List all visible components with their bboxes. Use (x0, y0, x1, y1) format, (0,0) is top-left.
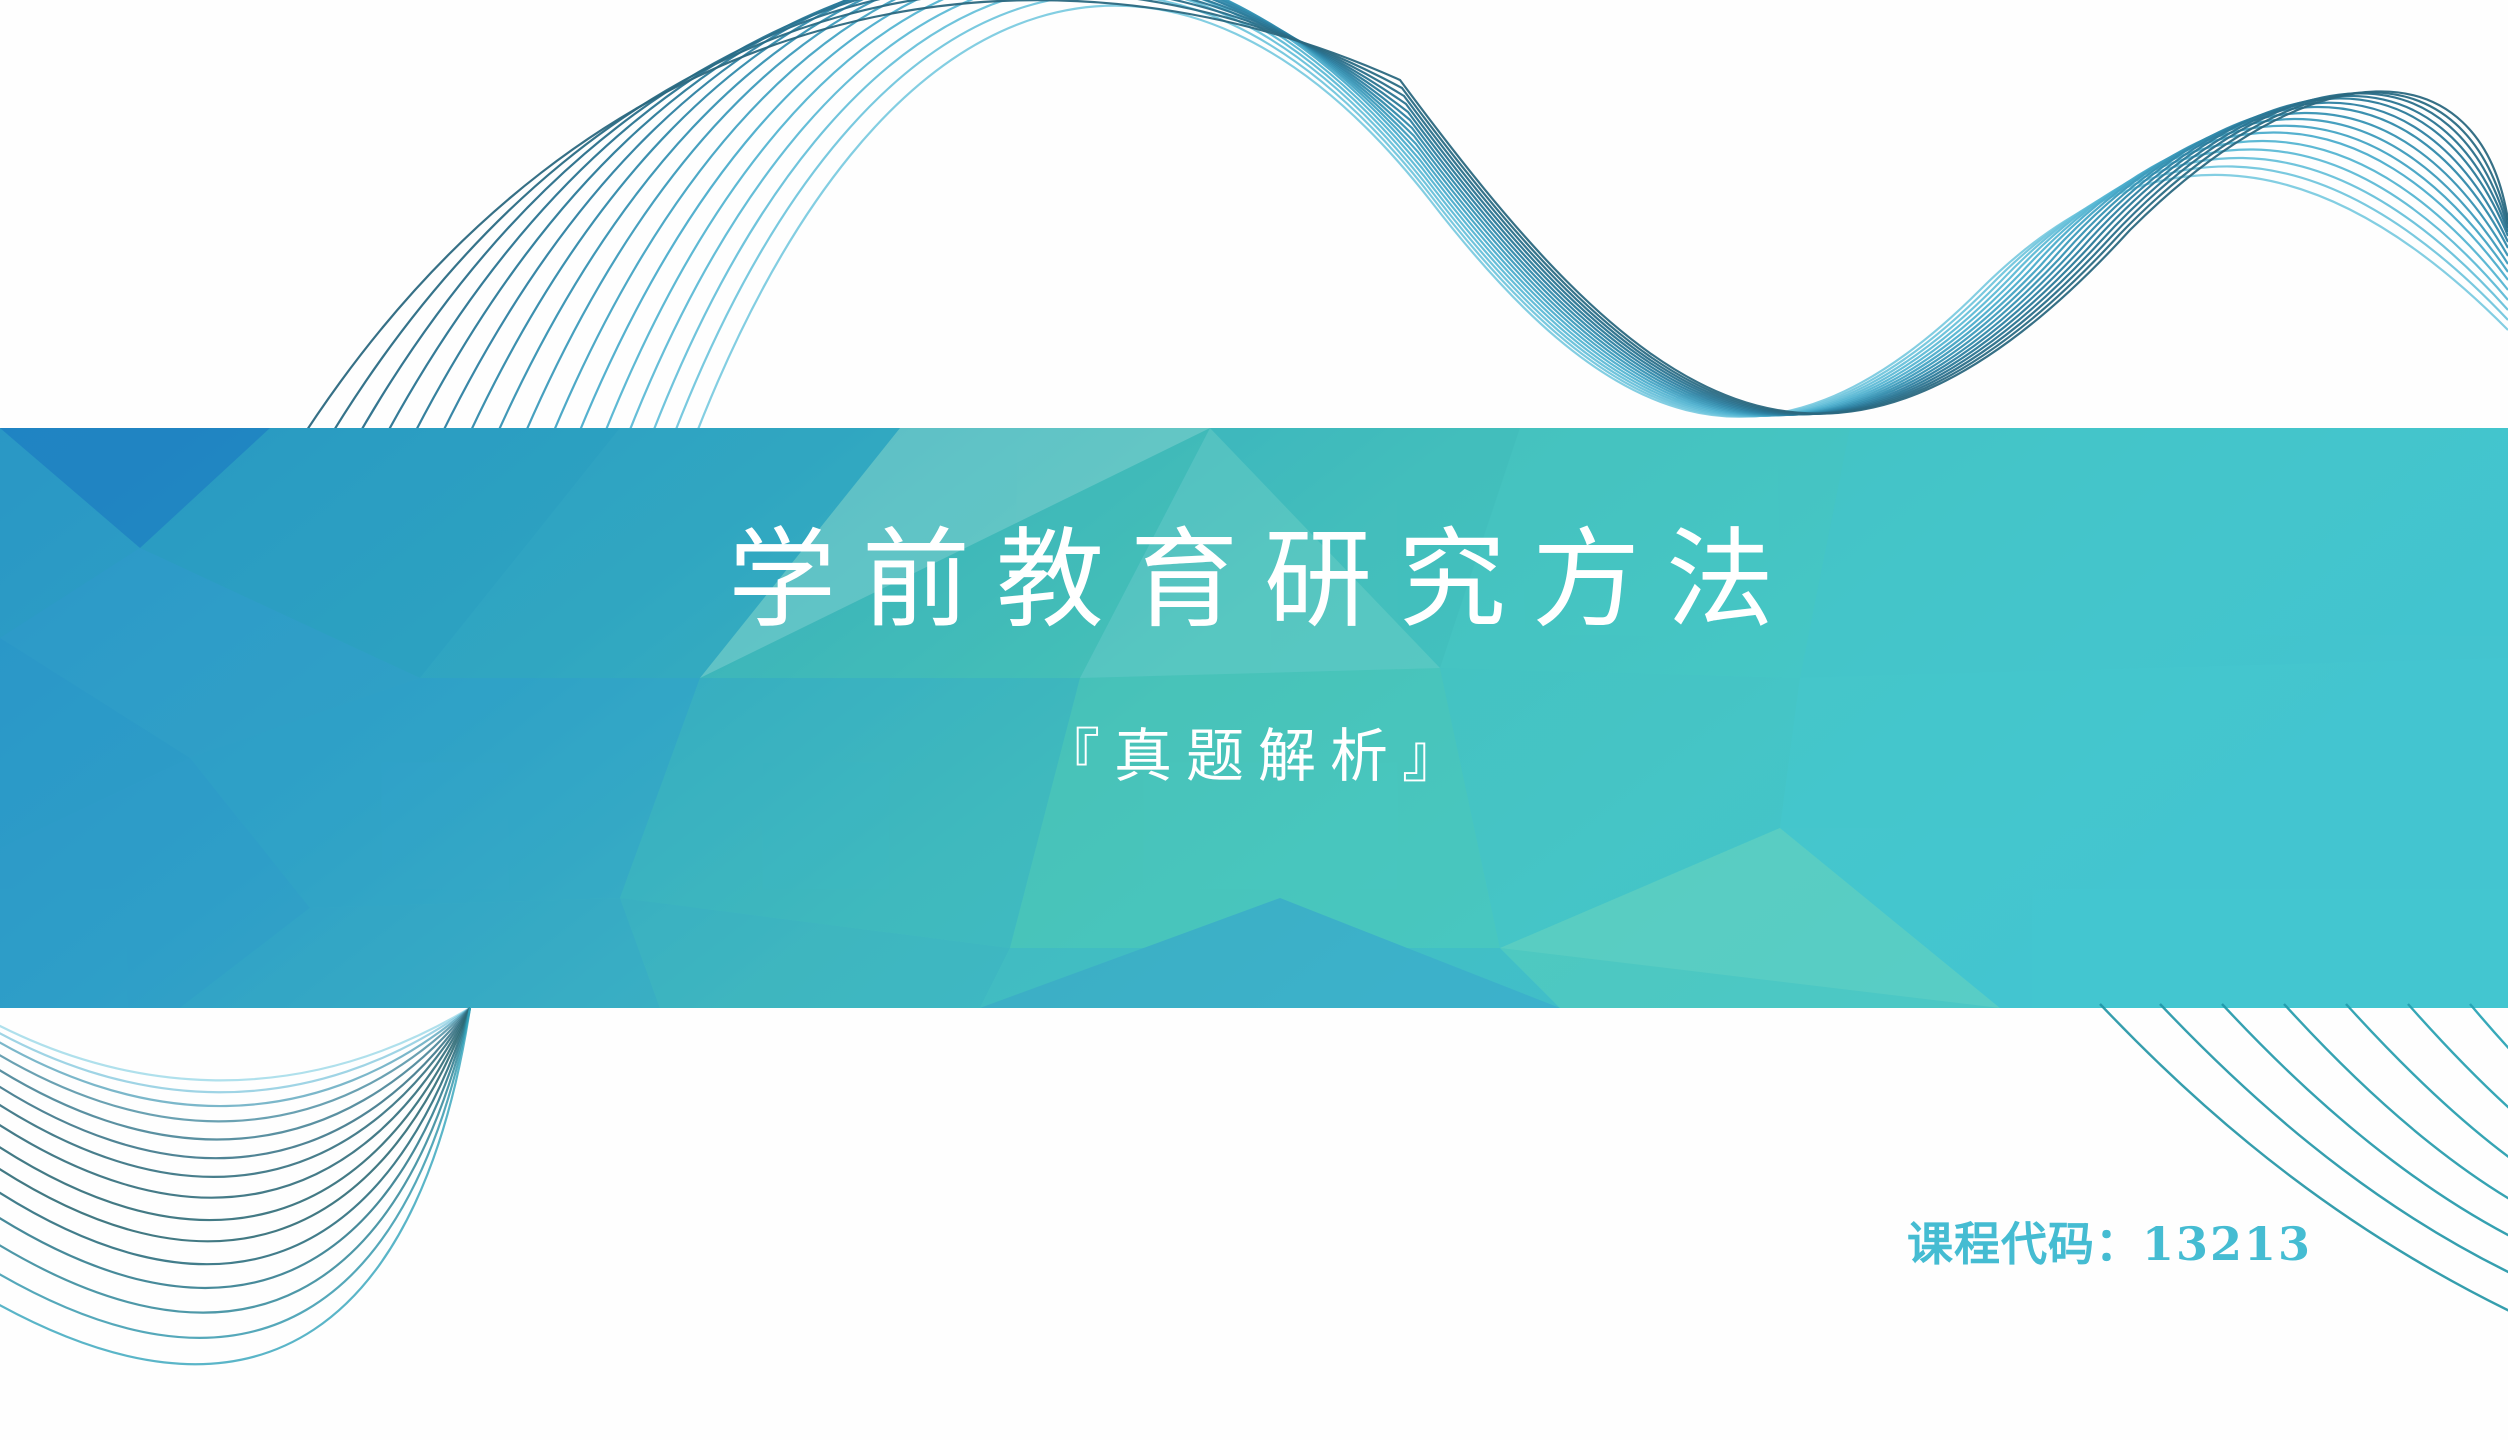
page-subtitle: 『真题解析』 (1028, 709, 1474, 793)
bottom-left-wave-lines (0, 1000, 1100, 1440)
course-code: 课程代码：13213 (1907, 1208, 2312, 1274)
top-wave-lines (0, 0, 2508, 450)
page-title: 学前教育研究方法 (702, 524, 1800, 637)
course-code-value: 13213 (2142, 1217, 2312, 1271)
presentation-slide: 学前教育研究方法 『真题解析』 (0, 0, 2508, 1440)
title-banner: 学前教育研究方法 『真题解析』 (0, 428, 2508, 1008)
course-code-label: 课程代码： (1907, 1217, 2142, 1271)
banner-text-block: 学前教育研究方法 『真题解析』 (0, 428, 2508, 1008)
